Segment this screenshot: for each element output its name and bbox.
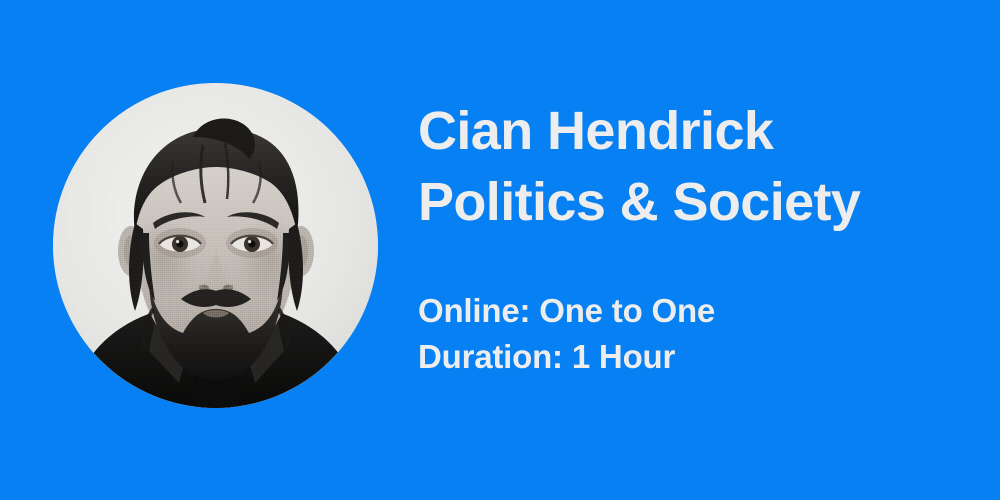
session-meta: Online: One to One Duration: 1 Hour (418, 288, 958, 380)
portrait-illustration (53, 83, 378, 408)
speaker-text-block: Cian Hendrick Politics & Society Online:… (418, 96, 958, 380)
speaker-name: Cian Hendrick (418, 96, 958, 167)
speaker-topic: Politics & Society (418, 167, 958, 238)
speaker-portrait (53, 83, 378, 408)
speaker-card: Cian Hendrick Politics & Society Online:… (0, 0, 1000, 500)
session-duration: Duration: 1 Hour (418, 334, 958, 380)
session-format: Online: One to One (418, 288, 958, 334)
